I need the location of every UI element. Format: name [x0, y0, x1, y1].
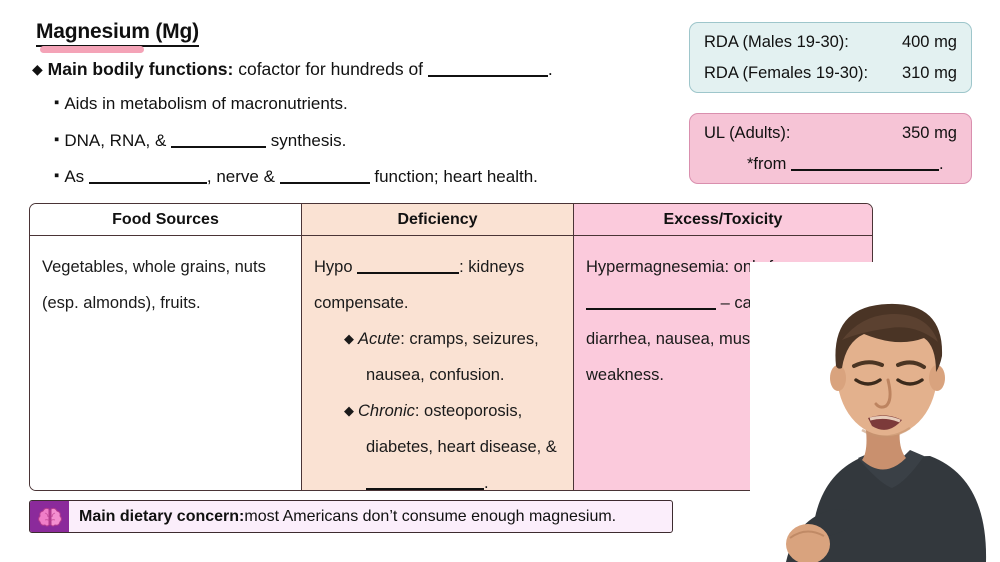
rda-callout-box: RDA (Males 19-30): 400 mg RDA (Females 1… — [689, 22, 972, 93]
diamond-bullet-icon: ◆ — [32, 61, 43, 77]
sub-bullet-1-text: Aids in metabolism of macronutrients. — [64, 94, 347, 113]
deficiency-chronic-period: . — [484, 474, 489, 491]
rda-males-label: RDA (Males 19-30): — [704, 33, 849, 52]
fill-blank-excess — [586, 308, 716, 310]
sub-bullet-3-mid: , nerve & — [207, 167, 280, 186]
food-sources-line-1: Vegetables, whole grains, nuts — [42, 249, 289, 285]
concern-body: most Americans don’t consume enough magn… — [244, 508, 616, 526]
page-title-wrap: Magnesium (Mg) — [36, 20, 199, 47]
main-function-bullet: ◆ Main bodily functions: cofactor for hu… — [32, 59, 553, 80]
deficiency-line-1-before: Hypo — [314, 258, 357, 276]
square-bullet-icon: ▪ — [54, 131, 59, 148]
diamond-bullet-icon: ◆ — [344, 321, 354, 357]
sub-bullet-2-text-end: synthesis. — [266, 131, 346, 150]
fill-blank-ul — [791, 169, 939, 171]
table-cell-deficiency: Hypo : kidneys compensate. ◆ Acute: cram… — [302, 236, 574, 491]
rda-females-label: RDA (Females 19-30): — [704, 64, 868, 83]
table-header-deficiency: Deficiency — [302, 204, 574, 236]
sub-bullet-1: ▪Aids in metabolism of macronutrients. — [54, 94, 348, 114]
deficiency-line-1-after: : kidneys — [459, 258, 524, 276]
deficiency-item-acute: ◆ Acute: cramps, seizures, — [314, 321, 561, 357]
deficiency-item-chronic: ◆ Chronic: osteoporosis, — [314, 393, 561, 429]
deficiency-acute-cont: nausea, confusion. — [314, 357, 561, 393]
fill-blank-hypo — [357, 272, 459, 274]
table-body-row: Vegetables, whole grains, nuts (esp. alm… — [30, 236, 872, 491]
table-header-row: Food Sources Deficiency Excess/Toxicity — [30, 204, 872, 236]
deficiency-line-2: compensate. — [314, 285, 561, 321]
sub-bullet-3-end: function; heart health. — [370, 167, 538, 186]
fill-blank-2 — [171, 146, 266, 148]
presenter-webcam-overlay — [750, 262, 1000, 562]
nutrient-table: Food Sources Deficiency Excess/Toxicity … — [29, 203, 873, 491]
brain-icon-container — [30, 501, 69, 532]
square-bullet-icon: ▪ — [54, 94, 59, 111]
fill-blank-3 — [89, 182, 207, 184]
sub-bullet-3: ▪As , nerve & function; heart health. — [54, 167, 538, 187]
main-dietary-concern-bar: Main dietary concern: most Americans don… — [29, 500, 673, 533]
sub-bullet-2: ▪DNA, RNA, & synthesis. — [54, 131, 346, 151]
title-highlight-stroke — [40, 46, 144, 53]
deficiency-acute-term: Acute — [358, 330, 400, 348]
food-sources-line-2: (esp. almonds), fruits. — [42, 285, 289, 321]
main-function-label: Main bodily functions: — [48, 59, 234, 79]
table-header-excess-toxicity: Excess/Toxicity — [574, 204, 872, 236]
lecture-slide: Magnesium (Mg) ◆ Main bodily functions: … — [0, 0, 1000, 562]
rda-females-value: 310 mg — [902, 64, 957, 83]
square-bullet-icon: ▪ — [54, 167, 59, 184]
deficiency-chronic-rest: : osteoporosis, — [415, 402, 522, 420]
ul-note: *from . — [747, 155, 944, 174]
ul-note-prefix: *from — [747, 155, 791, 173]
concern-label: Main dietary concern: — [79, 508, 244, 526]
deficiency-acute-rest: : cramps, seizures, — [400, 330, 538, 348]
rda-males-value: 400 mg — [902, 33, 957, 52]
deficiency-chronic-blank-line: . — [314, 465, 561, 491]
brain-icon — [38, 507, 62, 527]
deficiency-chronic-cont: diabetes, heart disease, & — [314, 429, 561, 465]
deficiency-line-1: Hypo : kidneys — [314, 249, 561, 285]
ul-callout-box: UL (Adults): 350 mg *from . — [689, 113, 972, 184]
table-cell-food-sources: Vegetables, whole grains, nuts (esp. alm… — [30, 236, 302, 491]
ul-adults-value: 350 mg — [902, 124, 957, 143]
deficiency-chronic-term: Chronic — [358, 402, 415, 420]
sub-bullet-3-text: As — [64, 167, 89, 186]
fill-blank-1 — [428, 75, 548, 77]
page-title: Magnesium (Mg) — [36, 20, 199, 47]
main-function-text: cofactor for hundreds of — [233, 59, 428, 79]
fill-blank-chronic — [366, 488, 484, 490]
table-header-food-sources: Food Sources — [30, 204, 302, 236]
fill-blank-4 — [280, 182, 370, 184]
diamond-bullet-icon: ◆ — [344, 393, 354, 429]
main-function-text-end: . — [548, 59, 553, 79]
sub-bullet-2-text: DNA, RNA, & — [64, 131, 171, 150]
concern-text: Main dietary concern: most Americans don… — [69, 501, 672, 532]
ul-note-suffix: . — [939, 155, 944, 173]
ul-adults-label: UL (Adults): — [704, 124, 791, 143]
